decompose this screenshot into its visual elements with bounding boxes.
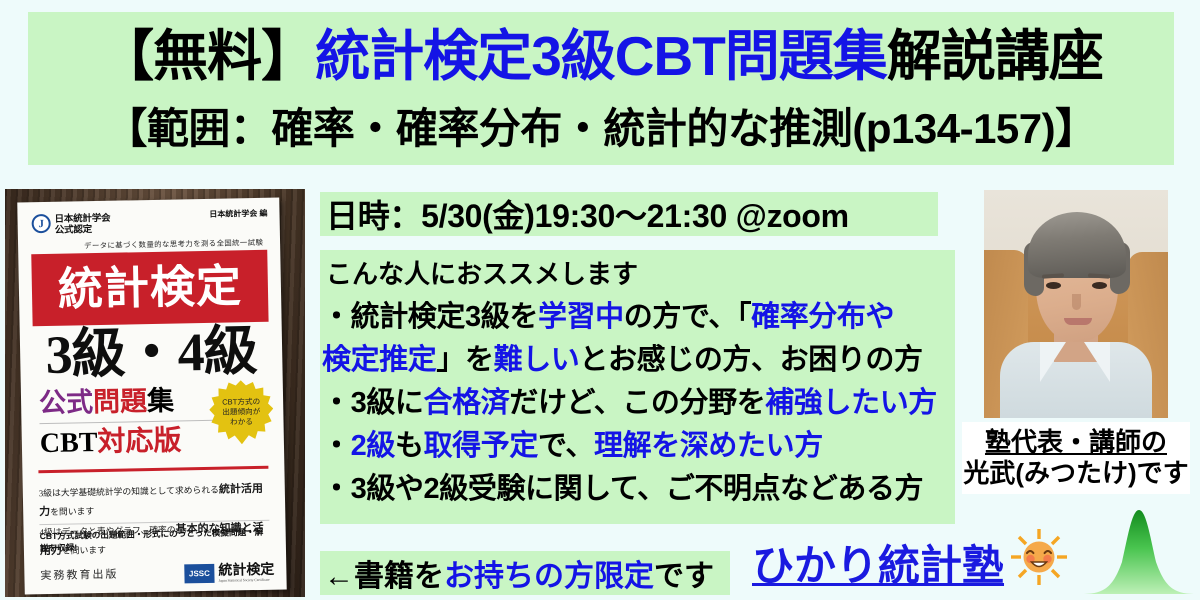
title-part-lecture: 解説講座 — [887, 29, 1103, 84]
book-editor-label: 日本統計学会 編 — [209, 208, 267, 220]
portrait-collar-left — [1040, 342, 1066, 382]
instructor-name: 光武(みつたけ)です — [963, 458, 1188, 489]
recommend-heading: こんな人におススメします — [326, 254, 638, 291]
badge-line-3: わかる — [222, 417, 260, 428]
book-association-label: 日本統計学会 公式認定 — [54, 213, 110, 236]
title-part-course: 統計検定3級CBT問題集 — [315, 29, 887, 84]
book-divider-1 — [40, 420, 228, 425]
jssc-logo-text: 統計検定 — [218, 563, 274, 578]
bullet-5-seg-1: ・3級や2級受験に関して、ご不明点などある方 — [322, 473, 923, 505]
subtitle-text: 【範囲：確率・確率分布・統計的な推測(p134-157)】 — [105, 108, 1096, 150]
bullet-2-seg-1: 検定推定 — [322, 344, 436, 376]
avatar — [984, 190, 1168, 418]
list-item: ・3級や2級受験に関して、ご不明点などある方 — [322, 468, 956, 511]
list-item: 検定推定」を難しいとお感じの方、お困りの方 — [322, 339, 956, 382]
bullet-2-seg-2: 」を — [436, 344, 493, 376]
portrait-eye-right — [1092, 282, 1107, 289]
smiling-sun-icon — [1010, 528, 1068, 586]
limited-seg-3: です — [654, 560, 714, 593]
jssc-logo-subtext: Japan Statistical Society Certificate — [219, 577, 275, 582]
book-desc-1c: を問います — [50, 506, 94, 517]
book-desc-1a: 3級は大学基礎統計学の知識として求められる — [39, 485, 219, 498]
limited-seg-1: ←書籍を — [324, 560, 444, 593]
jssc-logo-mark: JSSC — [184, 564, 214, 584]
bullet-3-seg-3: だけど、この分野を — [509, 387, 765, 419]
limited-seg-2: お持ちの方限定 — [444, 560, 654, 593]
bullet-1-seg-2: 学習中 — [538, 301, 624, 333]
book-grade: 3級・4級 — [32, 324, 271, 383]
portrait-collar-right — [1084, 342, 1110, 382]
bullet-4-seg-3: も — [395, 430, 424, 462]
recommend-bullet-list: ・統計検定3級を学習中の方で、「確率分布や 検定推定」を難しいとお感じの方、お困… — [322, 296, 956, 511]
schedule-text: 日時：5/30(金)19:30〜21:30 @zoom — [326, 191, 849, 237]
schedule-banner: 日時：5/30(金)19:30〜21:30 @zoom — [320, 192, 938, 236]
bullet-2-seg-4: とお感じの方、お困りの方 — [579, 344, 922, 376]
badge-line-1: CBT方式の — [222, 397, 260, 408]
book-red-rule — [38, 466, 268, 473]
limited-note-banner: ←書籍をお持ちの方限定です — [320, 551, 730, 595]
book-cbt-1: CBT — [40, 427, 98, 459]
book-tagline: データに基づく数量的な思考力を測る全国統一試験 — [84, 237, 270, 252]
portrait-nose — [1072, 294, 1081, 310]
portrait-mouth — [1064, 318, 1092, 325]
page-title: 【無料】 統計検定3級CBT問題集 解説講座 — [28, 18, 1174, 94]
title-part-free: 【無料】 — [99, 29, 315, 84]
bullet-3-seg-4: 補強したい方 — [765, 387, 937, 419]
book-koushiki-2: 問題 — [93, 386, 148, 417]
book-assoc-line2: 公式認定 — [55, 224, 111, 236]
normal-distribution-curve-icon — [1078, 506, 1200, 598]
book-association-block: J 日本統計学会 公式認定 — [31, 213, 110, 237]
bullet-1-seg-1: ・統計検定3級を — [322, 301, 538, 333]
book-cover: J 日本統計学会 公式認定 日本統計学会 編 データに基づく数量的な思考力を測る… — [17, 198, 286, 595]
book-cbt-2: 対応版 — [97, 425, 182, 458]
instructor-role: 塾代表・講師の — [985, 427, 1167, 458]
book-main-title-box: 統計検定 — [31, 250, 268, 327]
portrait-eye-left — [1046, 282, 1061, 289]
list-item: ・3級に合格済だけど、この分野を補強したい方 — [322, 382, 956, 425]
badge-line-2: 出題傾向が — [222, 407, 260, 418]
book-official-workbook: 公式問題集 — [39, 388, 174, 418]
poster-root: 【無料】 統計検定3級CBT問題集 解説講座 【範囲：確率・確率分布・統計的な推… — [0, 0, 1200, 600]
list-item: ・統計検定3級を学習中の方で、「確率分布や — [322, 296, 956, 339]
bullet-2-seg-3: 難しい — [494, 344, 580, 376]
book-assoc-line1: 日本統計学会 — [54, 213, 110, 225]
bullet-3-seg-2: 合格済 — [424, 387, 510, 419]
book-desc-line-3: CBT方式試験の出題範囲・形式にのっとった模擬問題・解説を収録! — [40, 526, 272, 554]
bullet-4-seg-5: で、 — [538, 430, 594, 462]
book-desc-line-1: 3級は大学基礎統計学の知識として求められる統計活用力を問います — [39, 480, 272, 523]
bullet-4-seg-6: 理解を深めたい方 — [594, 430, 823, 462]
instructor-caption: 塾代表・講師の 光武(みつたけ)です — [962, 422, 1190, 494]
book-main-title: 統計検定 — [57, 264, 242, 313]
limited-note-text: ←書籍をお持ちの方限定です — [324, 551, 714, 595]
book-photo: J 日本統計学会 公式認定 日本統計学会 編 データに基づく数量的な思考力を測る… — [5, 189, 305, 597]
bullet-1-seg-3: の方で、「 — [624, 301, 751, 333]
bullet-4-seg-4: 取得予定 — [424, 430, 538, 462]
jssc-seal-icon: J — [31, 214, 50, 233]
bullet-1-seg-4: 確率分布や — [751, 301, 894, 333]
book-starburst-badge: CBT方式の 出題傾向が わかる — [209, 380, 274, 445]
bullet-4-seg-1: ・ — [322, 430, 351, 462]
book-jssc-logo: JSSC 統計検定 Japan Statistical Society Cert… — [184, 563, 274, 584]
bullet-3-seg-1: ・3級に — [322, 387, 424, 419]
brand-name: ひかり統計塾 — [752, 532, 1004, 593]
book-koushiki-1: 公式 — [39, 387, 94, 418]
page-subtitle: 【範囲：確率・確率分布・統計的な推測(p134-157)】 — [28, 100, 1174, 158]
list-item: ・2級も取得予定で、理解を深めたい方 — [322, 425, 956, 468]
bullet-4-seg-2: 2級 — [351, 430, 395, 462]
book-cbt-edition: CBT対応版 — [40, 427, 182, 458]
book-koushiki-3: 集 — [147, 386, 175, 417]
book-publisher: 実務教育出版 — [40, 566, 118, 583]
